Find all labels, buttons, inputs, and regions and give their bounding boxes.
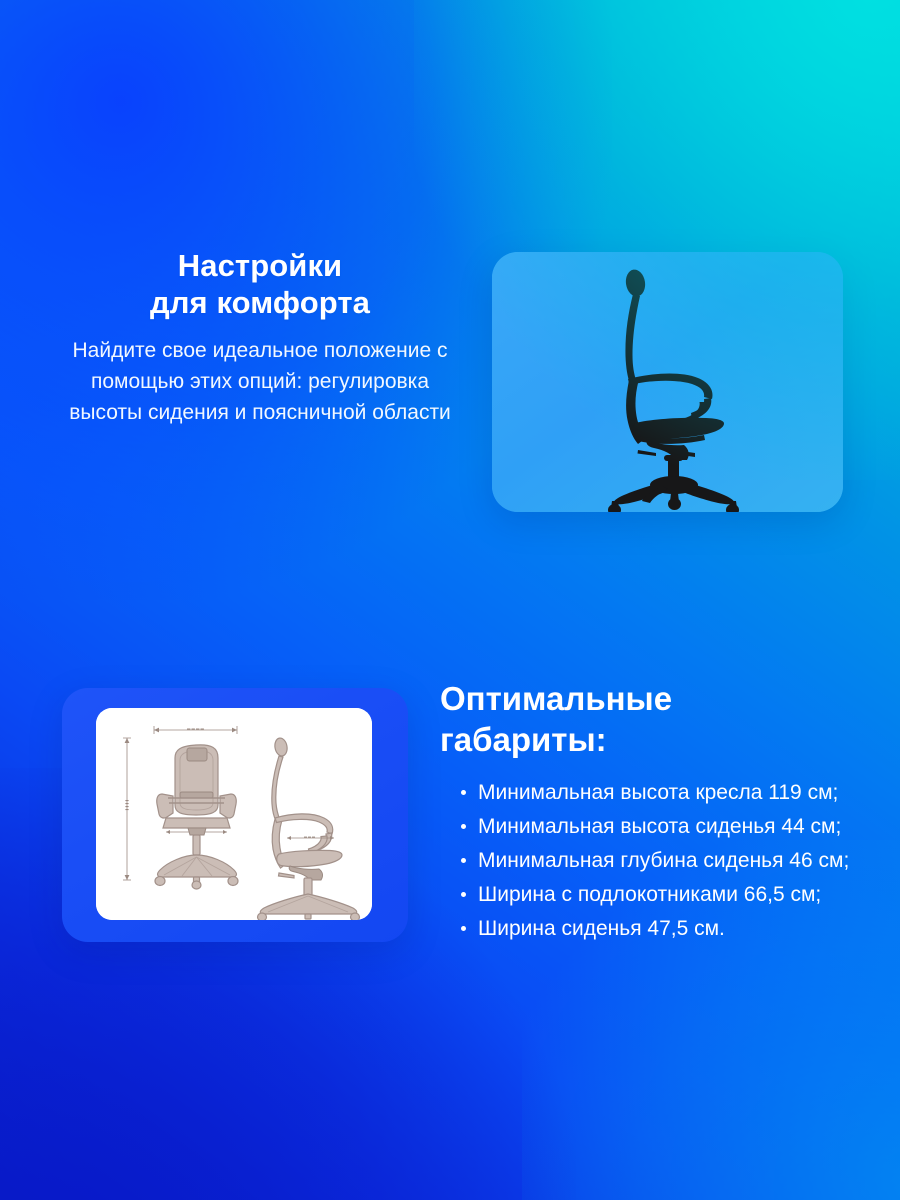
specs-title-line-1: Оптимальные [440,678,858,719]
list-item: Ширина с подлокотниками 66,5 см; [440,878,858,911]
list-item: Минимальная высота кресла 119 см; [440,776,858,809]
list-item: Ширина сиденья 47,5 см. [440,912,858,945]
list-item-label: Минимальная высота кресла 119 см; [478,781,838,804]
list-item-label: Минимальная высота сиденья 44 см; [478,815,841,838]
bullet-icon [461,926,466,931]
list-item-label: Ширина сиденья 47,5 см. [478,917,725,940]
top-body-text: Найдите свое идеальное положение с помощ… [60,335,460,428]
bullet-icon [461,790,466,795]
list-item-label: Минимальная глубина сиденья 46 см; [478,849,849,872]
top-copy-block: Настройки для комфорта Найдите свое идеа… [60,247,460,428]
specs-block: Оптимальные габариты: Минимальная высота… [440,678,858,946]
specs-title: Оптимальные габариты: [440,678,858,760]
office-chair-dimensions-drawing-icon: .ln { fill: none; stroke: #a2918a; strok… [96,708,372,920]
list-item: Минимальная высота сиденья 44 см; [440,810,858,843]
bullet-icon [461,892,466,897]
top-section: Настройки для комфорта Найдите свое идеа… [0,0,900,600]
office-chair-side-view-photo-icon [492,252,843,512]
top-title: Настройки для комфорта [60,247,460,321]
chair-photo-card [492,252,843,512]
chair-drawing-card: .ln { fill: none; stroke: #a2918a; strok… [62,688,408,942]
specs-list: Минимальная высота кресла 119 см; Минима… [440,776,858,945]
promo-poster: Настройки для комфорта Найдите свое идеа… [0,0,900,1200]
specs-title-line-2: габариты: [440,719,858,760]
bullet-icon [461,824,466,829]
top-title-line-1: Настройки [60,247,460,284]
chair-drawing-inner-panel: .ln { fill: none; stroke: #a2918a; strok… [96,708,372,920]
bullet-icon [461,858,466,863]
top-title-line-2: для комфорта [60,284,460,321]
list-item-label: Ширина с подлокотниками 66,5 см; [478,883,821,906]
list-item: Минимальная глубина сиденья 46 см; [440,844,858,877]
